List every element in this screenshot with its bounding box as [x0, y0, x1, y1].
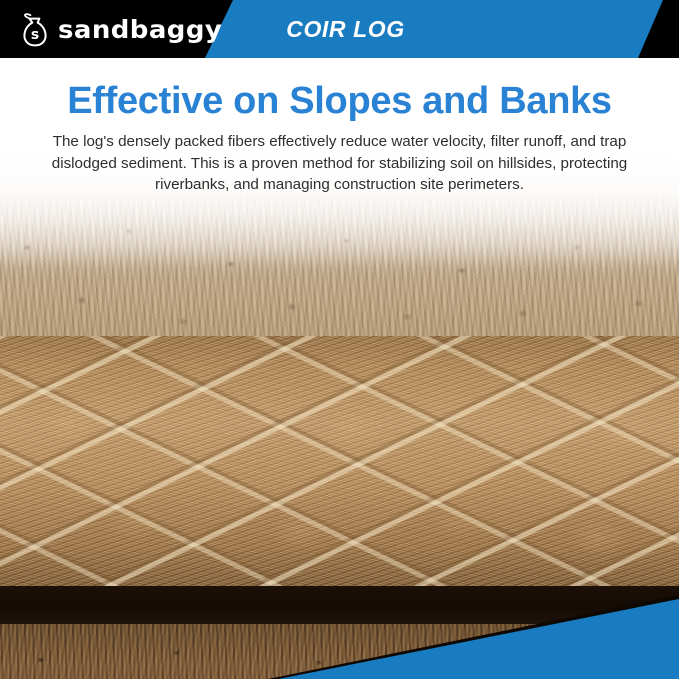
page-title: Effective on Slopes and Banks — [0, 81, 679, 122]
header-bar: s sandbaggy COIR LOG — [0, 0, 679, 58]
brand-logo[interactable]: s sandbaggy — [18, 11, 216, 49]
photo-soil-bed — [0, 624, 679, 679]
photo-coir-log — [0, 336, 679, 594]
svg-text:s: s — [31, 27, 39, 43]
sandbag-icon: s — [18, 12, 52, 48]
headline-section: Effective on Slopes and Banks The log's … — [0, 58, 679, 196]
body-paragraph: The log's densely packed fibers effectiv… — [50, 131, 630, 196]
product-infographic: s sandbaggy COIR LOG Effective on Slopes… — [0, 0, 679, 679]
brand-name: sandbaggy — [58, 17, 222, 44]
